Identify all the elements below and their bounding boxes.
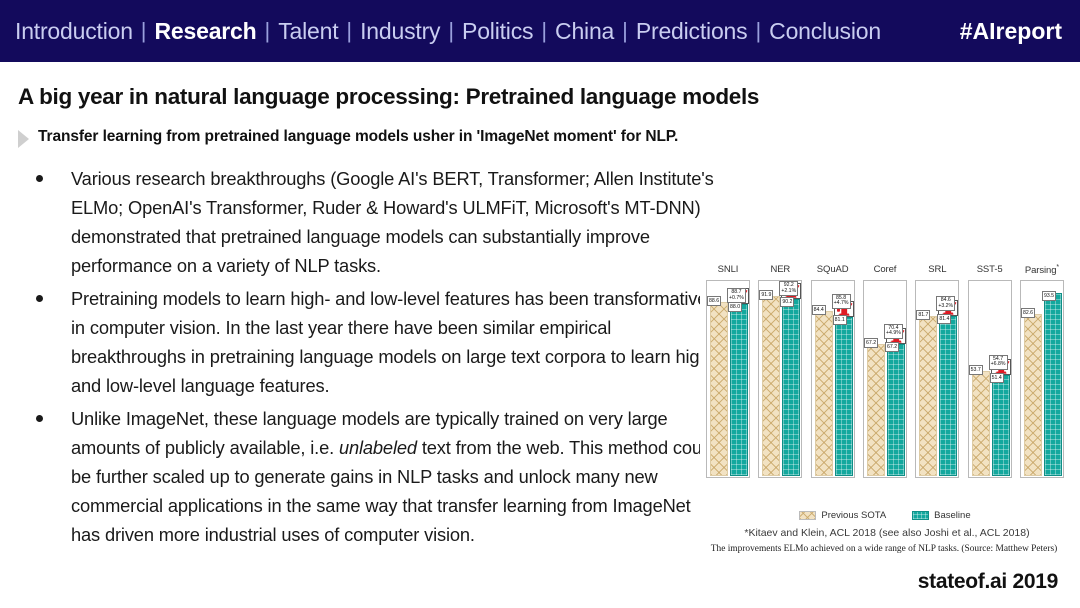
nav-item-china[interactable]: China	[554, 18, 615, 45]
chart-task-label: SQuAD	[809, 264, 857, 275]
chart-task-column: Coref 70.4+4.9%67.267.2	[861, 280, 909, 495]
elmo-results-figure: SNLI 88.7+0.7%88.688.0NER 92.2+2.1	[700, 263, 1070, 536]
chart-value-label-sota: 53.7	[969, 365, 983, 375]
bar-baseline	[992, 375, 1010, 476]
nav-separator: |	[534, 18, 554, 44]
subheading-text: Transfer learning from pretrained langua…	[38, 128, 678, 146]
bullet-text: Pretraining models to learn high- and lo…	[71, 284, 716, 400]
bar-previous-sota	[867, 344, 885, 476]
chart-task-column: NER 92.2+2.1%91.990.2	[756, 280, 804, 495]
nav-item-conclusion[interactable]: Conclusion	[768, 18, 882, 45]
chart-task-column: Parsing*82.693.5	[1018, 280, 1066, 495]
chart-value-label-sota: 67.2	[864, 338, 878, 348]
slide-body: A big year in natural language processin…	[0, 62, 1080, 608]
chart-task-panel: 82.693.5	[1020, 280, 1064, 478]
chart-task-panel: 85.8+4.7%84.481.1	[811, 280, 855, 478]
chart-value-label-sota: 91.9	[759, 290, 773, 300]
bar-previous-sota	[919, 316, 937, 476]
nav-item-predictions[interactable]: Predictions	[635, 18, 749, 45]
chart-value-label-elmo: 85.8+4.7%	[832, 294, 851, 309]
nav-item-politics[interactable]: Politics	[461, 18, 534, 45]
chart-value-label-baseline: 93.5	[1042, 291, 1056, 301]
legend-swatch-baseline	[912, 511, 929, 520]
chart-legend: Previous SOTABaseline	[700, 510, 1070, 521]
nav-separator: |	[257, 18, 277, 44]
bullet-text: Various research breakthroughs (Google A…	[71, 164, 716, 280]
chart-task-label: SRL	[913, 264, 961, 275]
bar-baseline	[1044, 293, 1062, 476]
chart-task-column: SQuAD 85.8+4.7%84.481.1	[809, 280, 857, 495]
bullet-text: Unlike ImageNet, these language models a…	[71, 404, 716, 549]
chart-task-column: SRL 84.6+3.2%81.781.4	[913, 280, 961, 495]
bar-baseline	[887, 344, 905, 476]
bar-previous-sota	[972, 371, 990, 476]
chart-task-panel: 92.2+2.1%91.990.2	[758, 280, 802, 478]
chart-bars: 70.4+4.9%67.267.2	[867, 280, 907, 476]
chart-task-panel: 70.4+4.9%67.267.2	[863, 280, 907, 478]
footnote-marker: *	[1056, 264, 1059, 271]
chart-task-panel: 84.6+3.2%81.781.4	[915, 280, 959, 478]
bullet-dot-icon	[36, 175, 43, 182]
chart-bars: 92.2+2.1%91.990.2	[762, 280, 802, 476]
chart-value-label-sota: 88.6	[707, 296, 721, 306]
chart-task-panel: 54.7+6.8%53.751.4	[968, 280, 1012, 478]
chart-value-label-elmo: 84.6+3.2%	[936, 296, 955, 311]
page-title: A big year in natural language processin…	[18, 84, 759, 110]
bar-baseline	[939, 316, 957, 476]
chart-task-label: NER	[756, 264, 804, 275]
bar-baseline	[835, 317, 853, 476]
chart-value-label-baseline: 81.4	[937, 314, 951, 324]
chart-task-label: SST-5	[966, 264, 1014, 275]
top-navigation-bar: Introduction|Research|Talent|Industry|Po…	[0, 0, 1080, 62]
chart-value-label-sota: 84.4	[812, 305, 826, 315]
nav-separator: |	[339, 18, 359, 44]
legend-item: Previous SOTA	[799, 510, 886, 521]
nav-item-research[interactable]: Research	[154, 18, 258, 45]
chart-value-label-baseline: 90.2	[780, 297, 794, 307]
bar-baseline	[730, 304, 748, 476]
chart-bars: 82.693.5	[1024, 280, 1064, 476]
chart-value-label-baseline: 81.1	[833, 315, 847, 325]
bullet-item: Unlike ImageNet, these language models a…	[26, 404, 716, 549]
chart-footnote: *Kitaev and Klein, ACL 2018 (see also Jo…	[700, 527, 1074, 539]
chart-task-label: Coref	[861, 264, 909, 275]
nav-separator: |	[134, 18, 154, 44]
chart-task-column: SNLI 88.7+0.7%88.688.0	[704, 280, 752, 495]
chart-bars: 84.6+3.2%81.781.4	[919, 280, 959, 476]
chart-columns: SNLI 88.7+0.7%88.688.0NER 92.2+2.1	[704, 280, 1066, 495]
chart-value-label-baseline: 88.0	[728, 302, 742, 312]
chart-value-label-elmo: 70.4+4.9%	[884, 324, 903, 339]
nav-item-introduction[interactable]: Introduction	[14, 18, 134, 45]
chart-bars: 88.7+0.7%88.688.0	[710, 280, 750, 476]
chart-task-label: Parsing*	[1018, 264, 1066, 276]
subheading-row: Transfer learning from pretrained langua…	[18, 128, 678, 148]
bullet-dot-icon	[36, 295, 43, 302]
figure-caption: The improvements ELMo achieved on a wide…	[688, 544, 1080, 554]
nav-item-talent[interactable]: Talent	[277, 18, 339, 45]
triangle-arrow-icon	[18, 130, 29, 148]
bullet-list: Various research breakthroughs (Google A…	[26, 164, 716, 553]
bar-previous-sota	[762, 296, 780, 476]
nav-separator: |	[615, 18, 635, 44]
chart-value-label-sota: 81.7	[916, 310, 930, 320]
nav-item-industry[interactable]: Industry	[359, 18, 441, 45]
legend-swatch-previous-sota	[799, 511, 816, 520]
chart-bars: 85.8+4.7%84.481.1	[815, 280, 855, 476]
bar-previous-sota	[710, 302, 728, 476]
nav-hashtag: #AIreport	[948, 18, 1062, 45]
chart-task-label: SNLI	[704, 264, 752, 275]
chart-task-column: SST-5 54.7+6.8%53.751.4	[966, 280, 1014, 495]
chart-value-label-elmo: 54.7+6.8%	[989, 355, 1008, 370]
nav-item-list: Introduction|Research|Talent|Industry|Po…	[14, 18, 948, 45]
chart-plot-area: SNLI 88.7+0.7%88.688.0NER 92.2+2.1	[700, 263, 1070, 508]
nav-separator: |	[748, 18, 768, 44]
chart-value-label-sota: 82.6	[1021, 308, 1035, 318]
bar-baseline	[782, 299, 800, 476]
chart-value-label-baseline: 67.2	[885, 342, 899, 352]
legend-label: Baseline	[934, 510, 970, 521]
chart-task-panel: 88.7+0.7%88.688.0	[706, 280, 750, 478]
nav-separator: |	[441, 18, 461, 44]
chart-value-label-elmo: 92.2+2.1%	[779, 281, 798, 296]
footer-brand: stateof.ai 2019	[918, 570, 1058, 594]
bar-previous-sota	[1024, 314, 1042, 476]
bar-previous-sota	[815, 311, 833, 476]
legend-item: Baseline	[912, 510, 970, 521]
chart-bars: 54.7+6.8%53.751.4	[972, 280, 1012, 476]
chart-value-label-baseline: 51.4	[990, 373, 1004, 383]
bullet-item: Various research breakthroughs (Google A…	[26, 164, 716, 280]
bullet-dot-icon	[36, 415, 43, 422]
bullet-item: Pretraining models to learn high- and lo…	[26, 284, 716, 400]
legend-label: Previous SOTA	[821, 510, 886, 521]
